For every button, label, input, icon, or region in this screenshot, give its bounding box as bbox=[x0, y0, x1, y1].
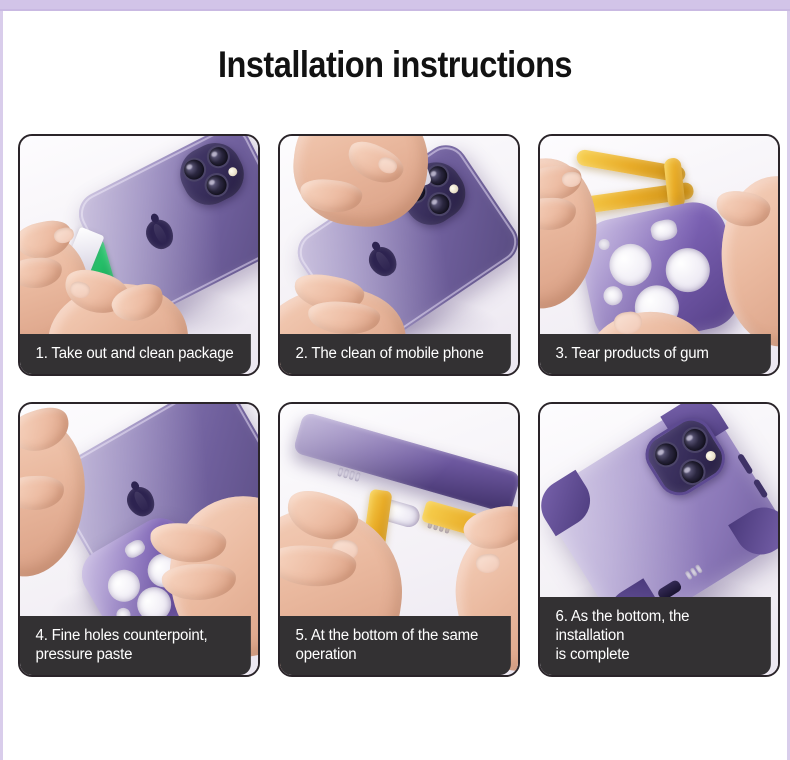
step-caption-1: 1. Take out and clean package bbox=[20, 334, 251, 374]
mic-hole bbox=[598, 238, 611, 251]
step-caption-4: 4. Fine holes counterpoint, pressure pas… bbox=[20, 616, 251, 675]
flash-icon bbox=[448, 183, 460, 195]
flash-icon bbox=[227, 166, 239, 178]
corner-bumper bbox=[728, 498, 778, 565]
step-card-2[interactable]: 2. The clean of mobile phone bbox=[278, 134, 520, 376]
camera-lens bbox=[675, 454, 711, 490]
step-card-6[interactable]: 6. As the bottom, the installation is co… bbox=[538, 402, 780, 677]
step-caption-3: 3. Tear products of gum bbox=[540, 334, 771, 374]
corner-bumper bbox=[540, 470, 600, 537]
step-card-1[interactable]: 1. Take out and clean package bbox=[18, 134, 260, 376]
step-caption-6: 6. As the bottom, the installation is co… bbox=[540, 597, 771, 675]
step-caption-5: 5. At the bottom of the same operation bbox=[280, 616, 511, 675]
side-button bbox=[753, 478, 769, 498]
top-accent-band bbox=[0, 0, 790, 11]
speaker-grille-right bbox=[685, 564, 703, 580]
side-button bbox=[737, 453, 754, 475]
installation-instructions-page: Installation instructions bbox=[0, 0, 790, 760]
lens-hole bbox=[606, 240, 656, 290]
step-card-3[interactable]: 3. Tear products of gum bbox=[538, 134, 780, 376]
flash-icon bbox=[704, 449, 718, 463]
steps-grid: 1. Take out and clean package bbox=[18, 134, 779, 677]
page-title: Installation instructions bbox=[50, 44, 740, 86]
step-card-4[interactable]: 4. Fine holes counterpoint, pressure pas… bbox=[18, 402, 260, 677]
sensor-hole bbox=[602, 284, 625, 307]
flash-hole bbox=[649, 218, 679, 243]
step-caption-2: 2. The clean of mobile phone bbox=[280, 334, 511, 374]
flash-hole bbox=[123, 537, 148, 560]
step-card-5[interactable]: 5. At the bottom of the same operation bbox=[278, 402, 520, 677]
camera-lens bbox=[648, 436, 684, 472]
